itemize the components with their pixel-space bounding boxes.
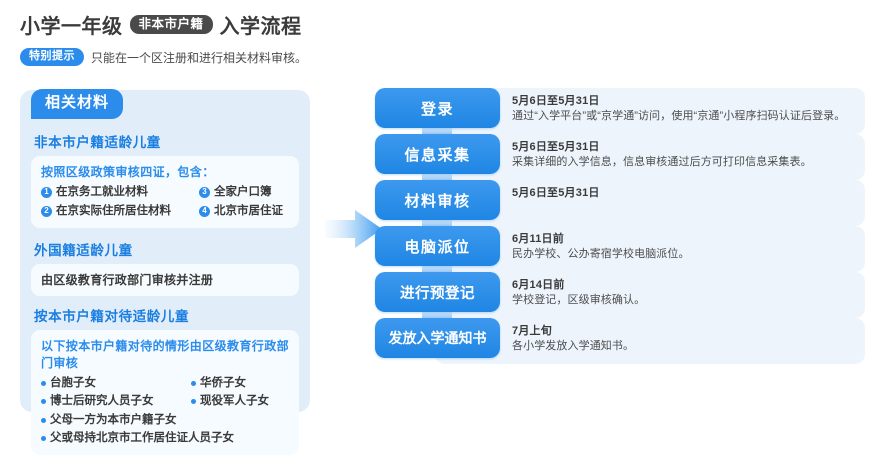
bullet-dot-icon (41, 418, 46, 423)
list-item-label: 博士后研究人员子女 (50, 393, 154, 410)
list-item: 2 在京实际住所居住材料 (41, 203, 199, 220)
step-desc: 通过“入学平台”或“京学通”访问，使用“京通”小程序扫码认证后登录。 (512, 109, 857, 125)
four-certs-list: 1 在京务工就业材料 3 全家户口簿 2 在京实际住所居住材料 4 北京市居住证 (41, 184, 289, 221)
step-detail: 5月6日至5月31日 (512, 186, 857, 201)
step-pill-admission-notice[interactable]: 发放入学通知书 (375, 318, 500, 358)
step-date: 6月14日前 (512, 278, 857, 293)
four-certs-heading: 按照区级政策审核四证，包含： (41, 163, 289, 180)
flow-step-row: 材料审核 5月6日至5月31日 (375, 180, 865, 226)
flow-step-row: 电脑派位 6月11日前 民办学校、公办寄宿学校电脑派位。 (375, 226, 865, 272)
step-pill-material-review[interactable]: 材料审核 (375, 180, 500, 220)
list-item-label: 现役军人子女 (200, 393, 269, 410)
number-marker-icon: 4 (199, 206, 210, 217)
list-item-label: 全家户口簿 (214, 184, 272, 201)
step-detail: 7月上旬 各小学发放入学通知书。 (512, 324, 857, 355)
list-item-label: 台胞子女 (50, 375, 96, 392)
number-marker-icon: 2 (41, 206, 52, 217)
special-tip: 特别提示 只能在一个区注册和进行相关材料审核。 (20, 48, 307, 66)
step-detail: 5月6日至5月31日 采集详细的入学信息，信息审核通过后方可打印信息采集表。 (512, 140, 857, 171)
step-detail: 6月14日前 学校登记，区级审核确认。 (512, 278, 857, 309)
foreign-review-note: 由区级教育行政部门审核并注册 (41, 271, 289, 288)
section-title-foreign: 外国籍适龄儿童 (34, 239, 299, 259)
list-item-label: 父母一方为本市户籍子女 (50, 412, 177, 429)
bullet-dot-icon (191, 381, 196, 386)
list-item-label: 华侨子女 (200, 375, 246, 392)
enrollment-flow: 登录 5月6日至5月31日 通过“入学平台”或“京学通”访问，使用“京通”小程序… (375, 88, 865, 364)
step-pill-login[interactable]: 登录 (375, 88, 500, 128)
list-item: 华侨子女 (191, 375, 289, 392)
step-pill-pre-registration[interactable]: 进行预登记 (375, 272, 500, 312)
step-date: 5月6日至5月31日 (512, 186, 857, 201)
bullet-dot-icon (41, 399, 46, 404)
list-item-label: 在京实际住所居住材料 (56, 203, 171, 220)
step-date: 7月上旬 (512, 324, 857, 339)
household-type-badge: 非本市户籍 (130, 15, 213, 35)
section-box-treated-local: 以下按本市户籍对待的情形由区级教育行政部门审核 台胞子女 华侨子女 博士后研究人… (31, 330, 299, 455)
treated-local-list: 台胞子女 华侨子女 博士后研究人员子女 现役军人子女 父母一方为本市户籍子女 父… (41, 375, 289, 447)
step-desc: 学校登记，区级审核确认。 (512, 293, 857, 309)
tip-text: 只能在一个区注册和进行相关材料审核。 (91, 49, 307, 66)
bullet-dot-icon (191, 399, 196, 404)
flow-step-row: 进行预登记 6月14日前 学校登记，区级审核确认。 (375, 272, 865, 318)
tip-badge: 特别提示 (20, 48, 84, 66)
section-title-non-local: 非本市户籍适龄儿童 (34, 131, 299, 151)
treated-local-heading: 以下按本市户籍对待的情形由区级教育行政部门审核 (41, 337, 289, 371)
step-pill-computer-allocation[interactable]: 电脑派位 (375, 226, 500, 266)
page-title-suffix: 入学流程 (220, 10, 302, 39)
section-box-foreign: 由区级教育行政部门审核并注册 (31, 264, 299, 296)
step-date: 5月6日至5月31日 (512, 140, 857, 155)
bullet-dot-icon (41, 381, 46, 386)
list-item: 博士后研究人员子女 (41, 393, 191, 410)
list-item-label: 在京务工就业材料 (56, 184, 148, 201)
step-detail: 5月6日至5月31日 通过“入学平台”或“京学通”访问，使用“京通”小程序扫码认… (512, 94, 857, 125)
list-item: 4 北京市居住证 (199, 203, 289, 220)
list-item: 3 全家户口簿 (199, 184, 289, 201)
section-title-treated-local: 按本市户籍对待适龄儿童 (34, 305, 299, 325)
flow-step-row: 登录 5月6日至5月31日 通过“入学平台”或“京学通”访问，使用“京通”小程序… (375, 88, 865, 134)
list-item: 父或母持北京市工作居住证人员子女 (41, 430, 289, 447)
list-item: 1 在京务工就业材料 (41, 184, 199, 201)
step-desc: 采集详细的入学信息，信息审核通过后方可打印信息采集表。 (512, 155, 857, 171)
section-box-non-local: 按照区级政策审核四证，包含： 1 在京务工就业材料 3 全家户口簿 2 在京实际… (31, 156, 299, 229)
list-item: 台胞子女 (41, 375, 191, 392)
list-item-label: 北京市居住证 (214, 203, 283, 220)
materials-card: 相关材料 非本市户籍适龄儿童 按照区级政策审核四证，包含： 1 在京务工就业材料… (20, 90, 310, 412)
step-pill-info-collection[interactable]: 信息采集 (375, 134, 500, 174)
materials-card-tab: 相关材料 (31, 89, 123, 119)
page-title: 小学一年级 非本市户籍 入学流程 (20, 10, 302, 39)
bullet-dot-icon (41, 436, 46, 441)
flow-step-row: 信息采集 5月6日至5月31日 采集详细的入学信息，信息审核通过后方可打印信息采… (375, 134, 865, 180)
number-marker-icon: 1 (41, 187, 52, 198)
list-item: 父母一方为本市户籍子女 (41, 412, 289, 429)
step-date: 5月6日至5月31日 (512, 94, 857, 109)
list-item: 现役军人子女 (191, 393, 289, 410)
step-date: 6月11日前 (512, 232, 857, 247)
step-desc: 各小学发放入学通知书。 (512, 339, 857, 355)
flow-step-row: 发放入学通知书 7月上旬 各小学发放入学通知书。 (375, 318, 865, 364)
step-detail: 6月11日前 民办学校、公办寄宿学校电脑派位。 (512, 232, 857, 263)
page-title-prefix: 小学一年级 (20, 10, 123, 39)
number-marker-icon: 3 (199, 187, 210, 198)
step-desc: 民办学校、公办寄宿学校电脑派位。 (512, 247, 857, 263)
list-item-label: 父或母持北京市工作居住证人员子女 (50, 430, 234, 447)
